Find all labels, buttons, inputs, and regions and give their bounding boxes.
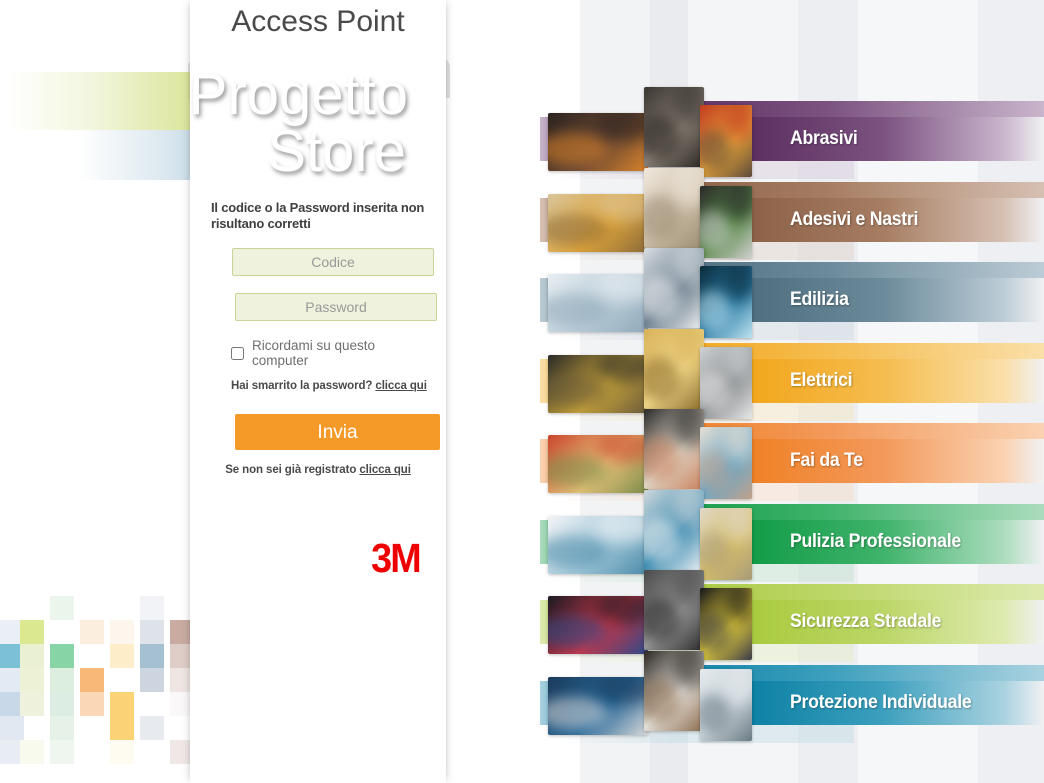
mosaic-cell <box>110 716 134 740</box>
mosaic-cell <box>140 644 164 668</box>
decorative-mosaic <box>0 596 192 783</box>
page-root: AbrasiviAdesivi e NastriEdiliziaElettric… <box>0 0 1044 783</box>
category-row[interactable]: Pulizia Professionale <box>540 498 1044 579</box>
forgot-password-link[interactable]: clicca qui <box>375 380 426 392</box>
category-row[interactable]: Protezione Individuale <box>540 659 1044 740</box>
category-label: Protezione Individuale <box>790 681 971 725</box>
category-label: Adesivi e Nastri <box>790 198 918 242</box>
category-thumbnail-image <box>700 669 752 741</box>
category-thumbnails <box>548 659 788 740</box>
submit-button[interactable]: Invia <box>235 414 440 450</box>
category-thumbnail-image <box>548 355 648 413</box>
mosaic-cell <box>80 692 104 716</box>
mosaic-cell <box>20 668 44 692</box>
mosaic-cell <box>140 620 164 644</box>
category-row[interactable]: Sicurezza Stradale <box>540 578 1044 659</box>
code-input[interactable] <box>232 248 434 276</box>
mosaic-cell <box>80 668 104 692</box>
category-thumbnail-image <box>644 168 704 248</box>
category-thumbnail-image <box>644 248 704 328</box>
mosaic-cell <box>20 692 44 716</box>
remember-me-row[interactable]: Ricordami su questo computer <box>231 338 428 368</box>
mosaic-cell <box>20 644 44 668</box>
category-thumbnail-image <box>548 677 648 735</box>
category-thumbnails <box>548 578 788 659</box>
category-label: Elettrici <box>790 359 852 403</box>
mosaic-cell <box>110 740 134 764</box>
register-text: Se non sei già registrato <box>225 464 356 476</box>
register-link[interactable]: clicca qui <box>359 464 410 476</box>
category-panel: AbrasiviAdesivi e NastriEdiliziaElettric… <box>540 0 1044 783</box>
category-thumbnails <box>548 256 788 337</box>
category-thumbnail-image <box>700 105 752 177</box>
category-thumbnail-image <box>700 427 752 499</box>
mosaic-cell <box>20 620 44 644</box>
category-label: Sicurezza Stradale <box>790 600 941 644</box>
category-thumbnail-image <box>644 409 704 489</box>
mosaic-cell <box>50 668 74 692</box>
forgot-password-row: Hai smarrito la password? clicca qui <box>231 380 428 392</box>
category-row[interactable]: Adesivi e Nastri <box>540 176 1044 257</box>
category-thumbnails <box>548 417 788 498</box>
logo-3m-text: 3M <box>371 535 420 582</box>
category-thumbnails <box>548 337 788 418</box>
category-row[interactable]: Elettrici <box>540 337 1044 418</box>
mosaic-cell <box>110 692 134 716</box>
category-thumbnails <box>548 95 788 176</box>
register-row: Se non sei già registrato clicca qui <box>208 464 428 476</box>
category-thumbnail-image <box>548 194 648 252</box>
login-card: Access Point Il codice o la Password ins… <box>190 0 446 783</box>
category-thumbnails <box>548 176 788 257</box>
mosaic-cell <box>110 644 134 668</box>
category-thumbnail-image <box>700 186 752 258</box>
mosaic-cell <box>50 596 74 620</box>
category-thumbnail-image <box>644 570 704 650</box>
password-input[interactable] <box>235 293 437 321</box>
mosaic-cell <box>50 644 74 668</box>
category-thumbnail-image <box>644 490 704 570</box>
login-form: Il codice o la Password inserita non ris… <box>190 200 446 476</box>
category-row[interactable]: Fai da Te <box>540 417 1044 498</box>
mosaic-cell <box>0 716 24 740</box>
category-row[interactable]: Edilizia <box>540 256 1044 337</box>
mosaic-cell <box>110 620 134 644</box>
mosaic-cell <box>50 692 74 716</box>
category-thumbnail-image <box>644 87 704 167</box>
category-label: Edilizia <box>790 278 849 322</box>
remember-me-label: Ricordami su questo computer <box>252 338 428 368</box>
category-thumbnail-image <box>644 651 704 731</box>
mosaic-cell <box>140 668 164 692</box>
mosaic-cell <box>50 740 74 764</box>
category-thumbnail-image <box>548 596 648 654</box>
brand-logo-3m: 3M <box>190 535 446 582</box>
category-thumbnails <box>548 498 788 579</box>
mosaic-cell <box>80 620 104 644</box>
mosaic-cell <box>50 716 74 740</box>
remember-me-checkbox[interactable] <box>231 347 244 360</box>
category-label: Abrasivi <box>790 117 858 161</box>
category-thumbnail-image <box>644 329 704 409</box>
category-thumbnail-image <box>548 516 648 574</box>
category-thumbnail-image <box>548 113 648 171</box>
mosaic-cell <box>20 740 44 764</box>
category-thumbnail-image <box>700 266 752 338</box>
category-thumbnail-image <box>700 347 752 419</box>
mosaic-cell <box>140 716 164 740</box>
page-title: Access Point <box>190 0 446 44</box>
category-label: Pulizia Professionale <box>790 520 961 564</box>
category-thumbnail-image <box>700 588 752 660</box>
category-label: Fai da Te <box>790 439 863 483</box>
error-message: Il codice o la Password inserita non ris… <box>211 200 428 232</box>
category-thumbnail-image <box>548 435 648 493</box>
mosaic-cell <box>140 596 164 620</box>
category-thumbnail-image <box>700 508 752 580</box>
forgot-password-text: Hai smarrito la password? <box>231 380 372 392</box>
category-row[interactable]: Abrasivi <box>540 95 1044 176</box>
category-thumbnail-image <box>548 274 648 332</box>
